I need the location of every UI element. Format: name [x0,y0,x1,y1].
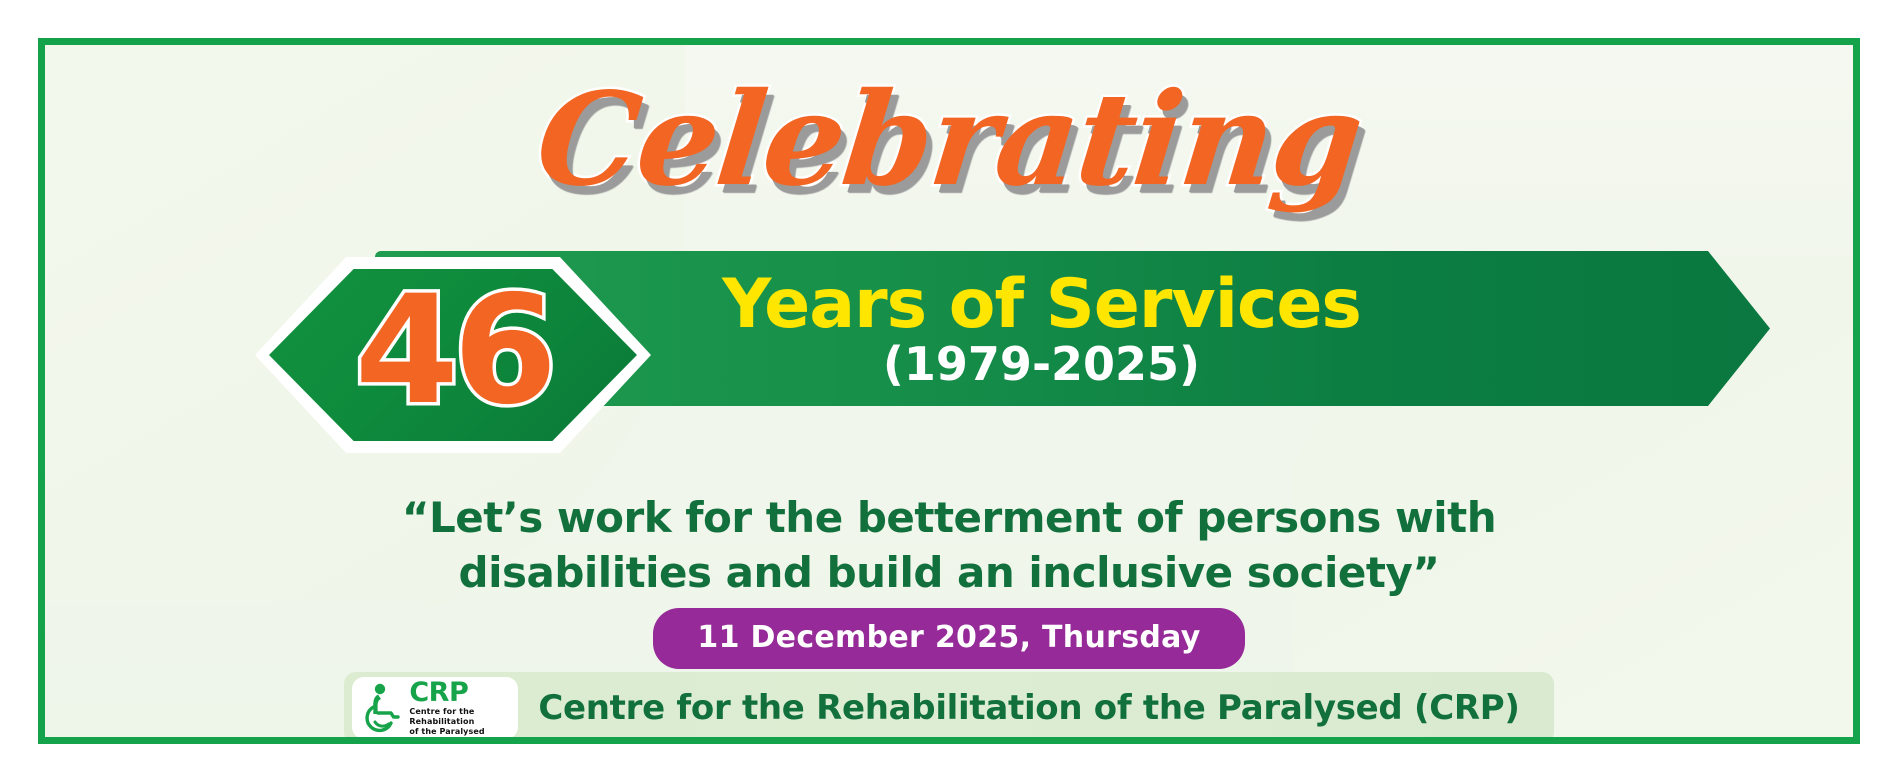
wheelchair-icon [360,683,404,733]
organisation-bar: CRP Centre for the Rehabilitation of the… [344,672,1553,744]
anniversary-number-badge: 46 [241,243,661,455]
event-date-badge: 11 December 2025, Thursday [653,608,1244,669]
slogan-line-1: “Let’s work for the betterment of person… [45,490,1853,545]
crp-acronym: CRP [409,679,484,706]
crp-logo-lettering: CRP Centre for the Rehabilitation of the… [409,679,484,736]
organisation-name: Centre for the Rehabilitation of the Par… [538,688,1519,728]
banner-content: Celebrating Years of Services (1979-2025… [45,45,1853,737]
crp-logo-tagline: Centre for the Rehabilitation of the Par… [409,707,484,736]
crp-tagline-line-1: Centre for the [409,707,474,716]
organisation-row: CRP Centre for the Rehabilitation of the… [45,672,1853,744]
anniversary-ribbon-row: Years of Services (1979-2025) 46 [45,243,1853,453]
year-range-label: (1979-2025) [883,341,1200,387]
crp-tagline-line-3: of the Paralysed [409,727,484,736]
years-of-services-title: Years of Services [722,271,1361,339]
date-badge-row: 11 December 2025, Thursday [45,608,1853,669]
crp-logo: CRP Centre for the Rehabilitation of the… [352,677,518,739]
banner-stage: Celebrating Years of Services (1979-2025… [0,0,1900,782]
slogan-text: “Let’s work for the betterment of person… [45,490,1853,601]
celebrating-headline: Celebrating [38,73,1860,207]
badge-number-text: 46 [355,276,552,426]
banner-frame: Celebrating Years of Services (1979-2025… [38,38,1860,744]
slogan-line-2: disabilities and build an inclusive soci… [45,545,1853,600]
crp-tagline-line-2: Rehabilitation [409,717,474,726]
